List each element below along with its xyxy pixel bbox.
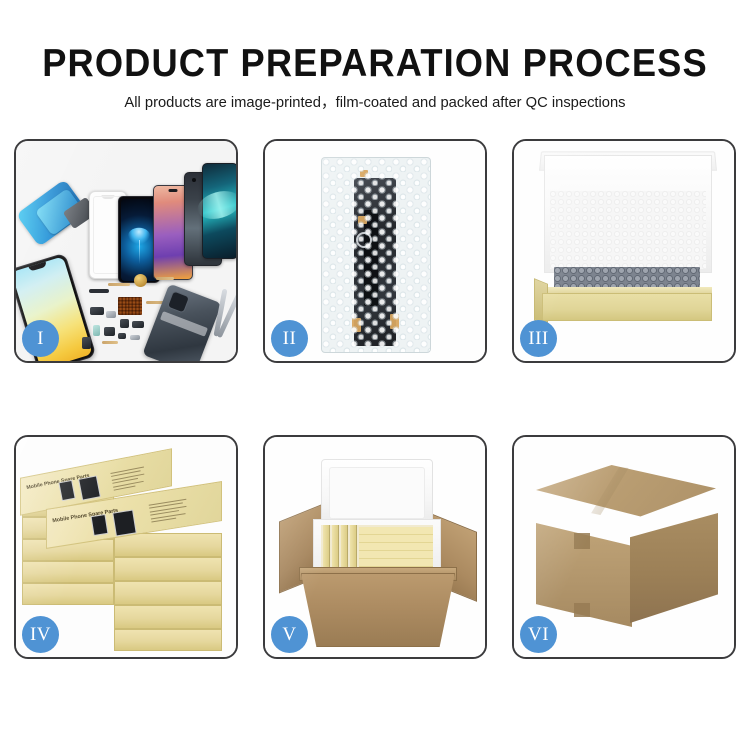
printed-screen-image <box>112 510 136 537</box>
carton-tape-patch <box>574 603 590 617</box>
process-step-panel-3[interactable]: III <box>512 139 736 363</box>
header: PRODUCT PREPARATION PROCESS All products… <box>0 0 750 120</box>
housing-label-band <box>160 311 208 337</box>
box-edge <box>114 533 222 557</box>
jellyfish-tentacle <box>139 240 140 264</box>
spare-part-chip <box>118 333 126 339</box>
spare-part-flex-cable <box>156 277 174 280</box>
bubble-wrap-texture <box>322 158 430 352</box>
spare-part-flex-cable <box>102 341 118 344</box>
spare-part-chip <box>82 337 91 349</box>
box-edge <box>114 581 222 605</box>
housing-camera-module <box>167 290 190 313</box>
step-badge-1: I <box>22 320 59 357</box>
spare-part-chip <box>132 321 144 328</box>
white-foam-sheet <box>550 191 706 269</box>
box-edge <box>22 561 114 583</box>
printed-screen-image <box>78 475 101 500</box>
spare-part-bracket <box>130 335 140 340</box>
spare-part-chip <box>120 319 129 328</box>
spare-part-camera-module <box>104 327 115 336</box>
step-badge-3: III <box>520 320 557 357</box>
spare-part-chip <box>90 307 104 315</box>
box-edge <box>114 557 222 581</box>
styrofoam-lid-inset <box>329 467 425 519</box>
step-badge-2: II <box>271 320 308 357</box>
process-step-panel-2[interactable]: II <box>263 139 487 363</box>
printed-screen-image <box>91 514 109 536</box>
process-step-panel-5[interactable]: V <box>263 435 487 659</box>
process-step-grid: I II <box>14 139 736 689</box>
spare-part-connector <box>93 325 100 336</box>
page-title: PRODUCT PREPARATION PROCESS <box>26 42 724 86</box>
packed-inner-boxes <box>321 525 433 573</box>
bubble-wrap-bag <box>321 157 431 353</box>
step-badge-6: VI <box>520 616 557 653</box>
process-step-panel-1[interactable]: I <box>14 139 238 363</box>
spare-part-gold-coin <box>134 274 147 287</box>
box-edge <box>114 605 222 629</box>
spare-part-bracket <box>106 311 116 318</box>
spare-part-flex-cable <box>108 283 130 286</box>
phone-front-camera-dot <box>192 178 196 182</box>
process-step-panel-4[interactable]: Mobile Phone Spare Parts Mobile Phone Sp… <box>14 435 238 659</box>
spare-part-copper-grid <box>118 297 142 315</box>
phone-camera-pill <box>169 189 178 192</box>
styrofoam-lid <box>321 459 433 527</box>
step-badge-5: V <box>271 616 308 653</box>
page-subtitle: All products are image-printed，film-coat… <box>11 90 739 112</box>
cyan-swirl-phone <box>202 163 236 259</box>
box-edge <box>114 629 222 651</box>
yellow-box-front-panel <box>542 293 712 321</box>
carton-tape-patch <box>574 533 590 549</box>
black-phone-wallpaper <box>121 199 158 281</box>
carton-body <box>301 573 455 647</box>
process-step-panel-6[interactable]: VI <box>512 435 736 659</box>
box-edge <box>22 583 114 605</box>
spare-part-bar <box>89 289 109 293</box>
step-badge-4: IV <box>22 616 59 653</box>
